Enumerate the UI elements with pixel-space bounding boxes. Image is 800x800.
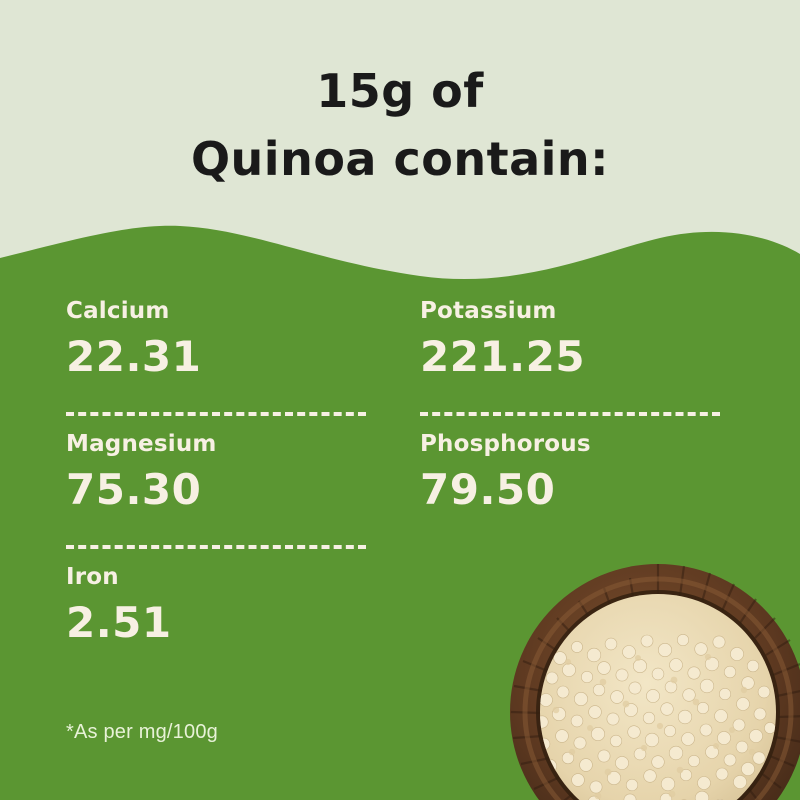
quinoa-bowl-image [508,562,800,800]
nutrient-item-iron: Iron 2.51 [66,566,172,644]
nutrient-value: 75.30 [66,469,217,511]
page-title-line-2: Quinoa contain: [0,136,800,182]
quinoa-nutrition-infographic: 15g of Quinoa contain: Calcium 22.31 Pot… [0,0,800,800]
nutrient-item-phosphorous: Phosphorous 79.50 [420,433,591,511]
divider-dashed [420,412,720,416]
nutrient-label: Magnesium [66,433,217,456]
nutrient-item-potassium: Potassium 221.25 [420,300,585,378]
nutrient-label: Potassium [420,300,585,323]
page-title-line-1: 15g of [0,68,800,114]
footnote: *As per mg/100g [66,721,218,744]
nutrient-label: Calcium [66,300,201,323]
nutrient-value: 2.51 [66,602,172,644]
divider-dashed [66,545,366,549]
nutrient-label: Phosphorous [420,433,591,456]
nutrient-item-magnesium: Magnesium 75.30 [66,433,217,511]
nutrient-value: 79.50 [420,469,591,511]
nutrient-label: Iron [66,566,172,589]
nutrient-value: 22.31 [66,336,201,378]
header: 15g of Quinoa contain: [0,0,800,230]
divider-dashed [66,412,366,416]
nutrient-value: 221.25 [420,336,585,378]
nutrient-item-calcium: Calcium 22.31 [66,300,201,378]
